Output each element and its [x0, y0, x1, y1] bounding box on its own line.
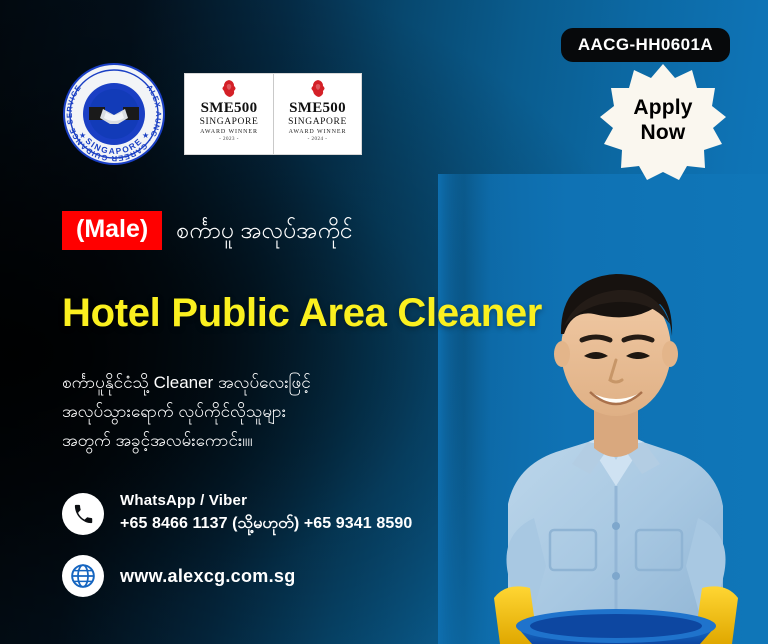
branding-row: ALEX AUNG · CAREER GUIDANCE SERVICE SING… [62, 62, 362, 166]
apply-now-line2: Now [641, 121, 686, 146]
award-line3: AWARD WINNER [200, 129, 258, 136]
description-block: စင်္ကာပူနိုင်ငံသို့ Cleaner အလုပ်လေးဖြင့… [62, 368, 311, 456]
website-url: www.alexcg.com.sg [120, 566, 296, 587]
description-line-3: အတွက် အခွင့်အလမ်းကောင်း။။ [62, 426, 311, 455]
description-line-1: စင်္ကာပူနိုင်ငံသို့ Cleaner အလုပ်လေးဖြင့… [62, 368, 311, 397]
worker-photo [438, 174, 768, 644]
burmese-kicker: စင်္ကာပူ အလုပ်အကိုင် [176, 217, 353, 243]
apply-now-badge[interactable]: Apply Now [600, 62, 726, 180]
svg-text:★: ★ [79, 131, 86, 140]
job-code-badge: AACG-HH0601A [561, 28, 730, 62]
award-badge: SME500 SINGAPORE AWARD WINNER - 2023 - [185, 74, 273, 154]
award-year: - 2023 - [219, 137, 239, 142]
award-title: SME500 [201, 101, 258, 116]
award-year: - 2024 - [308, 137, 328, 142]
award-title: SME500 [289, 101, 346, 116]
apply-now-line1: Apply [633, 96, 692, 121]
company-seal-logo: ALEX AUNG · CAREER GUIDANCE SERVICE SING… [62, 62, 166, 166]
page-title: Hotel Public Area Cleaner [62, 293, 542, 333]
svg-text:★: ★ [142, 131, 149, 140]
headline-kicker-row: (Male) စင်္ကာပူ အလုပ်အကိုင် [62, 211, 353, 250]
gender-tag: (Male) [62, 211, 162, 250]
contact-phone[interactable]: WhatsApp / Viber +65 8466 1137 (သို့မဟုတ… [62, 492, 412, 536]
phone-label: WhatsApp / Viber [120, 492, 412, 509]
phone-icon [62, 493, 104, 535]
award-subtitle: SINGAPORE [200, 117, 259, 129]
phone-numbers: +65 8466 1137 (သို့မဟုတ်) +65 9341 8590 [120, 512, 412, 536]
lion-head-icon [308, 79, 328, 99]
description-line-2: အလုပ်သွားရောက် လုပ်ကိုင်လိုသူများ [62, 397, 311, 426]
lion-head-icon [219, 79, 239, 99]
globe-icon [62, 555, 104, 597]
contact-website[interactable]: www.alexcg.com.sg [62, 555, 296, 597]
award-subtitle: SINGAPORE [288, 117, 347, 129]
award-badge: SME500 SINGAPORE AWARD WINNER - 2024 - [273, 74, 361, 154]
person-illustration [438, 174, 768, 644]
job-advertisement-poster: AACG-HH0601A Apply Now [0, 0, 768, 644]
award-line3: AWARD WINNER [289, 129, 347, 136]
award-badges: SME500 SINGAPORE AWARD WINNER - 2023 - S… [184, 73, 362, 155]
